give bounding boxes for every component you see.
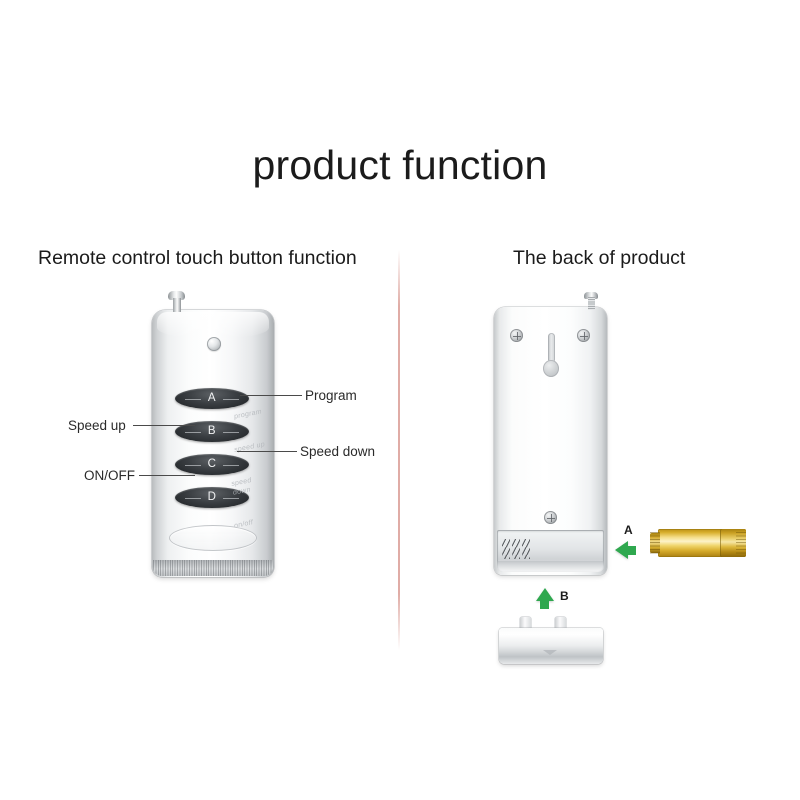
remote-button-a[interactable]: A xyxy=(175,388,249,409)
callout-label-on-off: ON/OFF xyxy=(84,468,135,483)
battery-spring-contacts xyxy=(502,539,532,559)
arrow-tail-a xyxy=(627,546,636,555)
grip-texture xyxy=(153,560,273,576)
embossed-oval xyxy=(169,525,257,551)
antenna-icon xyxy=(168,291,185,312)
antenna-stem xyxy=(173,298,181,312)
arrow-tail-b xyxy=(540,600,549,609)
remote-button-c[interactable]: C xyxy=(175,454,249,475)
spring-contact xyxy=(502,539,510,559)
battery-ridges-left xyxy=(650,532,660,554)
led-indicator-icon xyxy=(207,337,221,351)
battery-ridges-right xyxy=(736,532,746,554)
screw-icon-top-left xyxy=(510,329,523,342)
keyhole-slot xyxy=(548,333,555,363)
callout-label-speed-up: Speed up xyxy=(68,418,126,433)
leader-line-program xyxy=(240,395,302,396)
battery-cover-image xyxy=(499,617,603,664)
product-function-infographic: product function Remote control touch bu… xyxy=(0,0,800,800)
marker-label-a: A xyxy=(624,523,633,537)
antenna-icon-back xyxy=(584,292,598,310)
aaa-battery-image xyxy=(650,529,746,557)
leader-line-speed-up xyxy=(133,425,195,426)
antenna-stem-back xyxy=(588,297,595,310)
remote-control-front-image: A B C D program speed up speed down on/o… xyxy=(152,310,274,577)
spring-contact xyxy=(522,539,530,559)
spring-contact xyxy=(512,539,520,559)
callout-label-program: Program xyxy=(305,388,357,403)
section-title-left: Remote control touch button function xyxy=(38,247,357,270)
battery-bay-floor xyxy=(497,561,604,572)
battery-compartment xyxy=(497,530,604,572)
callout-label-speed-down: Speed down xyxy=(300,444,375,459)
leader-line-speed-down xyxy=(237,451,297,452)
panel-divider xyxy=(398,250,400,650)
keyhole-hole xyxy=(543,360,559,377)
section-title-right: The back of product xyxy=(513,247,685,270)
marker-label-b: B xyxy=(560,589,569,603)
keyhole-hanger-slot xyxy=(543,333,559,377)
cover-body xyxy=(499,628,603,664)
page-title: product function xyxy=(0,142,800,189)
cover-arrow-mark-icon xyxy=(543,650,557,655)
leader-line-on-off xyxy=(139,475,195,476)
screw-icon-top-right xyxy=(577,329,590,342)
remote-control-back-image xyxy=(494,307,607,575)
screw-icon-bottom xyxy=(544,511,557,524)
